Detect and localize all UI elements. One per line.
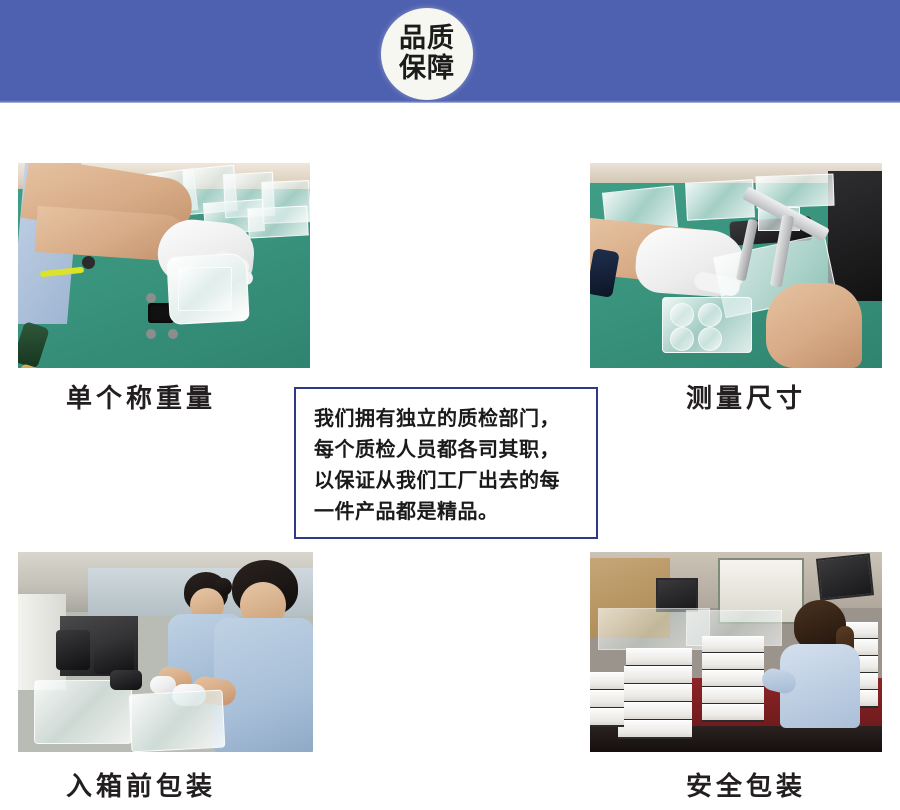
photo-dimension-measuring bbox=[590, 163, 882, 368]
statement-line-2: 每个质检人员都各司其职， bbox=[314, 434, 586, 465]
badge-line-2: 保障 bbox=[399, 54, 455, 84]
photo-safe-packaging bbox=[590, 552, 882, 752]
quality-assurance-page: 品质 保障 bbox=[0, 0, 900, 810]
caption-dimension-measuring: 测量尺寸 bbox=[686, 378, 806, 415]
photo-single-weighing bbox=[18, 163, 310, 368]
photo-packing-before-boxing bbox=[18, 552, 313, 752]
caption-single-weighing: 单个称重量 bbox=[66, 378, 216, 415]
statement-line-1: 我们拥有独立的质检部门， bbox=[314, 403, 586, 434]
statement-line-3: 以保证从我们工厂出去的每 bbox=[314, 465, 586, 496]
badge-line-1: 品质 bbox=[399, 24, 455, 54]
banner-bottom-edge bbox=[0, 100, 900, 103]
header-banner: 品质 保障 bbox=[0, 0, 900, 103]
quality-statement-box: 我们拥有独立的质检部门， 每个质检人员都各司其职， 以保证从我们工厂出去的每 一… bbox=[294, 387, 598, 539]
caption-safe-packaging: 安全包装 bbox=[686, 766, 806, 803]
quality-badge: 品质 保障 bbox=[381, 8, 473, 100]
caption-packing-before-boxing: 入箱前包装 bbox=[66, 766, 216, 803]
statement-line-4: 一件产品都是精品。 bbox=[314, 496, 586, 527]
